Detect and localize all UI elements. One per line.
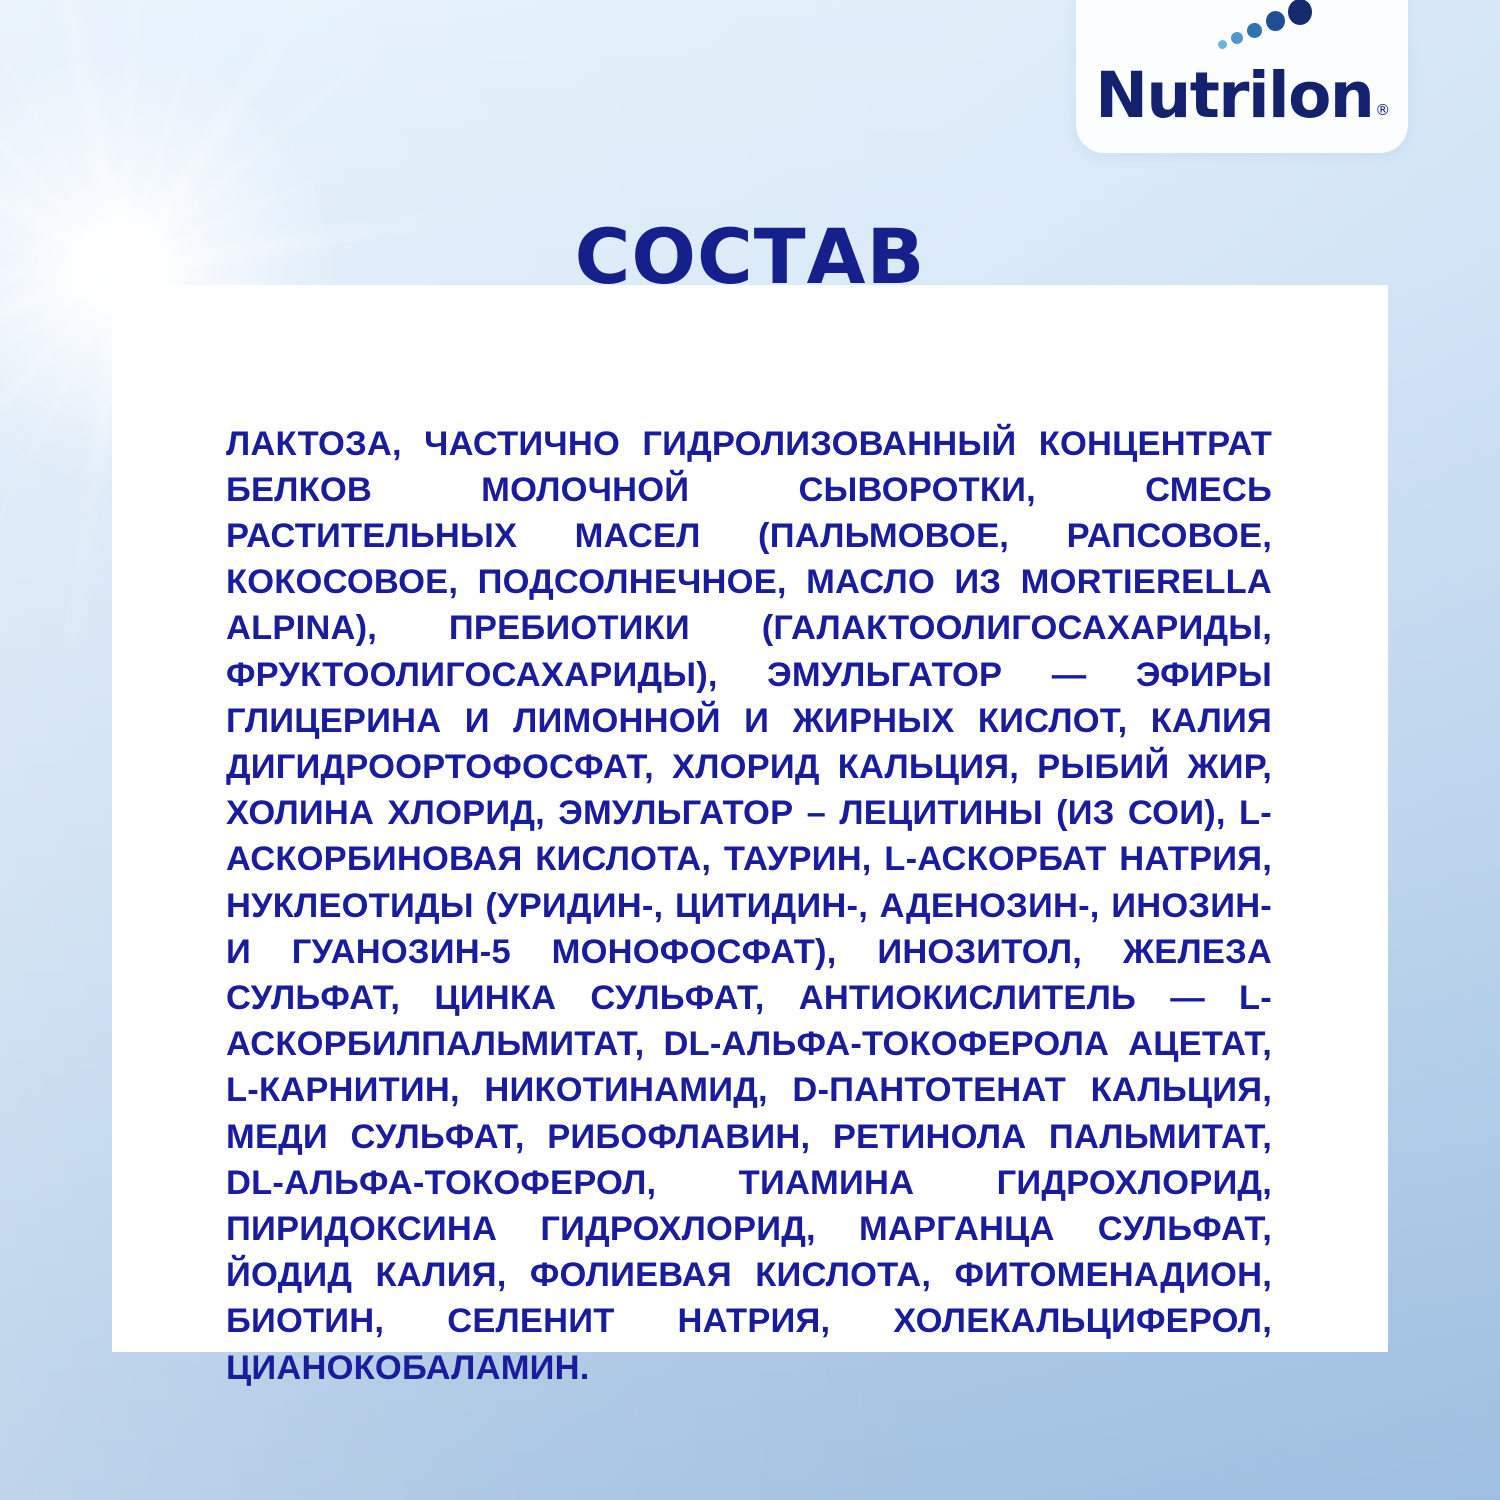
logo-dot-2: [1231, 32, 1243, 44]
logo-wordmark: Nutrilon®: [1076, 64, 1408, 127]
nutrilon-logo-card: Nutrilon®: [1076, 0, 1408, 153]
logo-dot-1: [1218, 40, 1227, 49]
logo-wordmark-text: Nutrilon: [1095, 59, 1373, 132]
logo-dot-3: [1247, 23, 1262, 38]
composition-page: Nutrilon® СОСТАВ ЛАКТОЗА, ЧАСТИЧНО ГИДРО…: [0, 0, 1500, 1500]
content-card: ЛАКТОЗА, ЧАСТИЧНО ГИДРОЛИЗОВАННЫЙ КОНЦЕН…: [112, 285, 1388, 1352]
logo-dot-5: [1288, 0, 1312, 25]
logo-inner: Nutrilon®: [1076, 10, 1408, 135]
ingredients-text: ЛАКТОЗА, ЧАСТИЧНО ГИДРОЛИЗОВАННЫЙ КОНЦЕН…: [226, 421, 1272, 1437]
logo-dot-4: [1266, 11, 1285, 31]
page-title: СОСТАВ: [0, 219, 1500, 295]
logo-dots-icon: [1218, 11, 1338, 51]
registered-trademark-icon: ®: [1375, 101, 1389, 119]
